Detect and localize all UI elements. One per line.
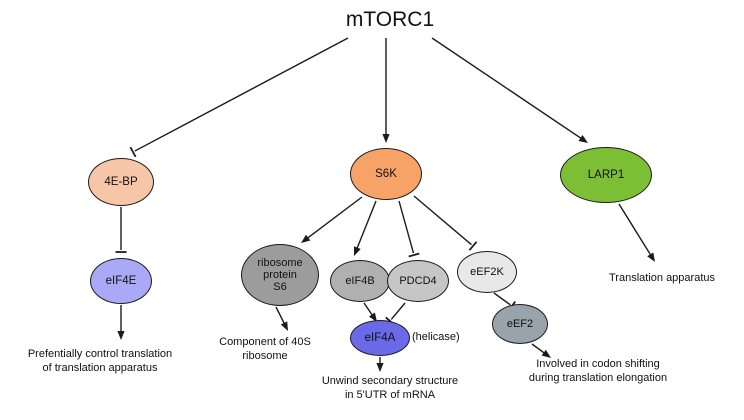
mtorc1-to-s6k bbox=[382, 38, 389, 143]
mtorc1-to-4ebp bbox=[130, 38, 348, 157]
4ebp-to-eif4e bbox=[116, 207, 127, 252]
node-label-rps6: ribosome protein S6 bbox=[242, 257, 318, 293]
node-label-eif4a: eIF4A bbox=[351, 332, 409, 345]
s6k-to-eef2k bbox=[414, 196, 477, 250]
node-larp1[interactable]: LARP1 bbox=[560, 147, 652, 203]
s6k-to-pdcd4 bbox=[399, 201, 419, 256]
node-label-pdcd4: PDCD4 bbox=[388, 275, 448, 287]
node-eif4a[interactable]: eIF4A bbox=[350, 320, 410, 356]
node-eif4e[interactable]: eIF4E bbox=[90, 258, 152, 304]
node-eef2k[interactable]: eEF2K bbox=[457, 251, 517, 293]
outcome-rps6: Component of 40S ribosome bbox=[190, 336, 340, 364]
s6k-to-eif4b bbox=[354, 201, 376, 256]
helicase-note: (helicase) bbox=[412, 331, 460, 343]
page-title: mTORC1 bbox=[340, 8, 440, 32]
mtorc1-to-larp1 bbox=[432, 38, 588, 143]
node-pdcd4[interactable]: PDCD4 bbox=[387, 260, 449, 302]
s6k-to-rps6 bbox=[301, 197, 362, 243]
eif4b-to-eif4a bbox=[364, 303, 377, 322]
outcome-larp1: Translation apparatus bbox=[587, 272, 737, 286]
node-4ebp[interactable]: 4E-BP bbox=[88, 158, 154, 206]
node-label-s6k: S6K bbox=[351, 168, 421, 181]
node-eif4b[interactable]: eIF4B bbox=[330, 260, 390, 302]
node-label-eif4e: eIF4E bbox=[91, 275, 151, 288]
node-label-larp1: LARP1 bbox=[561, 169, 651, 182]
node-eef2[interactable]: eEF2 bbox=[492, 304, 548, 344]
node-label-eef2: eEF2 bbox=[493, 318, 547, 330]
pathway-diagram: mTORC14E-BPS6KLARP1eIF4Eribosome protein… bbox=[0, 0, 744, 420]
node-s6k[interactable]: S6K bbox=[350, 148, 422, 200]
larp1-to-outcome bbox=[619, 204, 655, 262]
rps6-to-outcome bbox=[276, 307, 288, 331]
outcome-eef2: Involved in codon shifting during transl… bbox=[498, 358, 698, 386]
node-label-eif4b: eIF4B bbox=[331, 275, 389, 287]
outcome-4ebp: Prefentially control translation of tran… bbox=[0, 348, 200, 376]
node-label-eef2k: eEF2K bbox=[458, 266, 516, 278]
eif4e-to-outcome bbox=[117, 305, 124, 340]
node-rps6[interactable]: ribosome protein S6 bbox=[241, 244, 319, 306]
node-label-4ebp: 4E-BP bbox=[89, 176, 153, 189]
outcome-eif4a: Unwind secondary structure in 5'UTR of m… bbox=[285, 375, 495, 403]
eef2-to-outcome bbox=[532, 344, 551, 358]
eif4a-to-outcome bbox=[376, 357, 383, 372]
